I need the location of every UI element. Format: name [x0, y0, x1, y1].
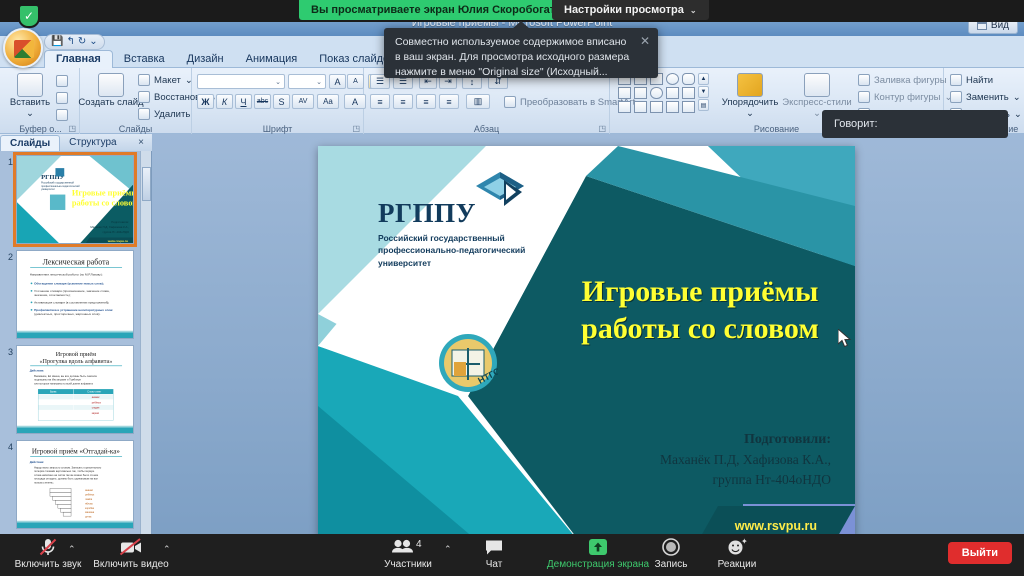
select-caret-icon: ⌄ [1014, 109, 1022, 120]
leave-meeting-button[interactable]: Выйти [948, 542, 1012, 564]
svg-text:Действие:: Действие: [30, 369, 44, 373]
brush-icon [56, 109, 68, 121]
thumbnail-number: 4 [3, 440, 13, 529]
paste-caret-icon: ⌄ [26, 108, 34, 119]
svg-text:каркас: каркас [92, 412, 100, 415]
thumbnail-slide-2[interactable]: Лексическая работа Направления лексическ… [16, 250, 134, 339]
font-name-input[interactable]: ⌄ [197, 74, 285, 89]
record-icon [662, 537, 680, 557]
logo-sub-line3: университет [378, 257, 548, 269]
tooltip-close-icon[interactable]: ✕ [640, 33, 650, 50]
layout-button[interactable]: Макет ⌄ [138, 74, 193, 86]
shape-outline-button[interactable]: Контур фигуры ⌄ [858, 91, 952, 103]
align-center-button[interactable]: ≡ [393, 94, 413, 109]
shape-down-arrow-icon[interactable] [634, 87, 647, 99]
group-slides: Создать слайд Макет ⌄ Восстановить Удали… [80, 68, 192, 135]
active-speaker-indicator: Говорит: [822, 110, 1008, 138]
logo-sub-line2: профессионально-педагогический [378, 244, 548, 256]
underline-button[interactable]: Ч [235, 94, 252, 109]
svg-text:лампа: лампа [85, 498, 93, 501]
delete-icon [138, 108, 150, 120]
character-spacing-button[interactable]: AV [292, 94, 314, 109]
svg-text:Игровые приёмы: Игровые приёмы [72, 189, 134, 198]
copy-button[interactable] [56, 92, 68, 104]
shape-brace-left-icon[interactable] [650, 101, 663, 113]
svg-text:поиска степень;: поиска степень; [34, 481, 54, 484]
svg-text:✦: ✦ [741, 538, 747, 546]
strikethrough-button[interactable]: abc [254, 94, 271, 109]
logo-subtitle: Российский государственный профессиональ… [378, 232, 548, 269]
group-paragraph-title: Абзац [364, 124, 609, 134]
smartart-icon [504, 96, 516, 108]
panel-close-icon[interactable]: × [138, 137, 144, 148]
shape-cloud-icon[interactable] [650, 87, 663, 99]
format-painter-button[interactable] [56, 109, 68, 121]
shape-brace-right-icon[interactable] [666, 101, 679, 113]
find-button[interactable]: Найти [950, 74, 993, 86]
svg-text:Российский государственный: Российский государственный [41, 182, 74, 185]
svg-text:значение, сочетаемость);: значение, сочетаемость); [34, 293, 71, 297]
thumbnail-2-art: Лексическая работа Направления лексическ… [17, 251, 134, 339]
shape-triangle-icon[interactable] [682, 87, 695, 99]
university-logo: РГППУ Российский государственный професс… [378, 198, 548, 269]
slide-title-line2: работы со словом [550, 311, 850, 348]
camera-icon [119, 538, 143, 556]
slide-title[interactable]: Игровые приёмы работы со словом [550, 274, 850, 347]
thumbnail-slide-3[interactable]: Игровой приём «Прогулка вдоль алфавита» … [16, 345, 134, 434]
scrollbar-thumb[interactable] [142, 167, 151, 201]
thumbnail-slide-4[interactable]: Игровой приём «Отгадай-ка» Действие: Нар… [16, 440, 134, 529]
arrange-button[interactable]: Упорядочить ⌄ [722, 73, 778, 119]
thumbnail-row[interactable]: 1 Игровые приёмы работы со словом [3, 155, 137, 244]
thumbnail-row[interactable]: 3 Игровой приём «Прогулка вдоль алфавита… [3, 345, 137, 434]
tab-slides[interactable]: Слайды [0, 135, 60, 151]
shape-right-arrow-icon[interactable] [618, 87, 631, 99]
smiley-icon: ✦ [727, 538, 747, 556]
thumbnail-slide-1[interactable]: Игровые приёмы работы со словом РГППУ Ро… [16, 155, 134, 244]
unmute-label: Включить звук [15, 559, 82, 570]
video-options-caret-icon[interactable]: ⌃ [163, 544, 171, 555]
replace-icon [950, 91, 962, 103]
start-video-label: Включить видео [93, 559, 169, 570]
participants-label: Участники [384, 559, 432, 570]
record-circle-icon [662, 538, 680, 556]
rgppu-logo-icon [474, 170, 526, 218]
group-font: ⌄ ⌄ A A ⌫ Ж К Ч abc S AV Аa A Шрифт ◳ [192, 68, 364, 135]
screen-share-banner: Вы просматриваете экран Юлия Скоробогато… [299, 0, 586, 20]
slides-panel: Слайды Структура × 1 [0, 134, 152, 542]
svg-text:яблоко: яблоко [85, 502, 93, 505]
view-options-label: Настройки просмотра [564, 4, 684, 16]
svg-text:Маханёк П.Д, Хафизова К.А.,: Маханёк П.Д, Хафизова К.А., [90, 225, 129, 229]
svg-text:Игровой приём: Игровой приём [56, 351, 96, 358]
chevron-down-icon: ⌄ [690, 6, 697, 15]
svg-text:группа Нт-404оНДО: группа Нт-404оНДО [103, 230, 130, 234]
svg-text:Профилактика и устранение нели: Профилактика и устранение нелитературных… [34, 308, 113, 312]
slide-thumbnail-list: 1 Игровые приёмы работы со словом [0, 151, 140, 542]
shape-outline-icon [858, 91, 870, 103]
shape-fill-icon [858, 74, 870, 86]
arrange-caret-icon: ⌄ [746, 108, 754, 119]
change-case-button[interactable]: Аa [317, 94, 339, 109]
office-button[interactable] [3, 28, 43, 68]
replace-label: Заменить [966, 92, 1009, 103]
svg-text:Активизация словаря (в составл: Активизация словаря (в составлении предл… [34, 300, 109, 304]
svg-text:работы со словом: работы со словом [72, 199, 134, 208]
quick-styles-label: Экспресс-стили [782, 97, 851, 108]
unmute-button[interactable]: Включить звук [5, 537, 91, 570]
group-clipboard-title: Буфер о... [2, 124, 79, 134]
group-font-title: Шрифт [192, 124, 363, 134]
office-logo-icon [14, 40, 34, 58]
view-options-button[interactable]: Настройки просмотра ⌄ [552, 0, 709, 20]
binoculars-icon [950, 74, 962, 86]
find-label: Найти [966, 75, 993, 86]
shapes-scroll-up-icon[interactable]: ▲ [698, 73, 709, 85]
svg-text:университет: университет [41, 188, 56, 191]
record-label: Запись [655, 559, 688, 570]
scissors-icon [56, 75, 68, 87]
paste-button[interactable]: Вставить ⌄ [8, 73, 52, 119]
share-fit-tooltip: ✕ Совместно используемое содержимое впис… [384, 28, 658, 78]
current-slide[interactable]: РГППУ Российский государственный професс… [318, 146, 855, 542]
font-dialog-launcher-icon[interactable]: ◳ [352, 124, 360, 133]
svg-text:Действие:: Действие: [30, 460, 44, 464]
new-slide-label: Создать слайд [78, 97, 143, 108]
svg-text:Слово-ответ: Слово-ответ [87, 391, 102, 394]
authors-line2: группа Нт-404оНДО [561, 470, 831, 490]
svg-text:коробка: коробка [85, 507, 95, 510]
copy-icon [56, 92, 68, 104]
svg-text:стадия: стадия [92, 407, 100, 410]
shapes-scroll-down-icon[interactable]: ▼ [698, 86, 709, 98]
italic-button[interactable]: К [216, 94, 233, 109]
svg-text:(диалектных, просторечных, жар: (диалектных, просторечных, жаргонных сло… [34, 312, 100, 316]
columns-button[interactable]: ▥ [466, 94, 490, 109]
shapes-scroll[interactable]: ▲ ▼ ▤ [698, 73, 709, 111]
shape-scribble-icon[interactable] [618, 101, 631, 113]
thumbnail-row[interactable]: 4 Игровой приём «Отгадай-ка» Действие: Н… [3, 440, 137, 529]
thumbnail-4-art: Игровой приём «Отгадай-ка» Действие: Нар… [17, 441, 134, 529]
svg-text:Буква: Буква [50, 391, 57, 394]
tooltip-line1: Совместно используемое содержимое вписан… [395, 35, 632, 50]
layout-icon [138, 74, 150, 86]
delete-slide-button[interactable]: Удалить [138, 108, 190, 120]
svg-text:«Прогулка вдоль алфавита»: «Прогулка вдоль алфавита» [39, 358, 112, 365]
share-shield-icon: ✓ [18, 4, 40, 28]
zoom-control-bar: Включить звук ⌃ Включить видео ⌃ 4 Участ… [0, 534, 1024, 576]
participants-button[interactable]: 4 Участники [365, 537, 451, 570]
font-size-input[interactable]: ⌄ [288, 74, 326, 89]
ntgspi-seal-icon: НТГСПИ [438, 332, 498, 394]
quick-styles-caret-icon: ⌄ [813, 108, 821, 119]
powerpoint-window: Игровые приёмы - Microsoft PowerPoint Ви… [0, 14, 1024, 542]
svg-text:Лексическая работа: Лексическая работа [43, 258, 110, 267]
reset-icon [138, 91, 150, 103]
cut-button[interactable] [56, 75, 68, 87]
svg-text:Уточнение словаря (произношени: Уточнение словаря (произношение, значени… [34, 289, 110, 293]
tab-dizayn[interactable]: Дизайн [176, 51, 235, 68]
chat-button[interactable]: Чат [451, 537, 537, 570]
microphone-muted-icon [38, 537, 58, 557]
undo-icon[interactable]: ↰ [66, 37, 74, 47]
audio-options-caret-icon[interactable]: ⌃ [68, 544, 76, 555]
shapes-more-icon[interactable]: ▤ [698, 99, 709, 111]
microphone-icon [38, 537, 58, 557]
save-icon[interactable]: 💾 [51, 37, 63, 47]
svg-text:www.rsvpu.ru: www.rsvpu.ru [107, 239, 128, 243]
reactions-button[interactable]: ✦ Реакции [694, 537, 780, 570]
shape-arc-icon[interactable] [634, 101, 647, 113]
arrange-icon [737, 73, 763, 97]
speaker-label: Говорит: [834, 118, 878, 130]
quick-access-toolbar[interactable]: 💾 ↰ ↻ ⌄ [44, 34, 105, 50]
arrange-label: Упорядочить [722, 97, 779, 108]
svg-text:ананас: ананас [92, 396, 101, 399]
paste-icon [17, 73, 43, 97]
svg-text:ручка: ручка [85, 516, 92, 519]
new-slide-icon [98, 73, 124, 97]
chat-icon [484, 537, 504, 557]
grow-font-button[interactable]: A [329, 74, 346, 89]
thumbnail-number: 1 [3, 155, 13, 244]
justify-button[interactable]: ≡ [439, 94, 459, 109]
shape-curve-icon[interactable] [666, 87, 679, 99]
clipboard-dialog-launcher-icon[interactable]: ◳ [68, 124, 76, 133]
svg-text:ребёнок: ребёнок [85, 494, 95, 497]
speech-bubble-icon [484, 539, 504, 556]
group-clipboard: Вставить ⌄ Буфер о... ◳ [2, 68, 80, 135]
svg-text:ребёнок: ребёнок [92, 401, 102, 404]
view-icon [977, 21, 987, 30]
slide-editing-area: РГППУ Российский государственный професс… [152, 134, 1024, 542]
svg-text:профессионально-педагогический: профессионально-педагогический [41, 185, 80, 188]
svg-text:Подготовили:: Подготовили: [111, 220, 129, 224]
new-slide-button[interactable]: Создать слайд [86, 73, 136, 108]
reactions-icon: ✦ [727, 537, 747, 557]
tab-outline[interactable]: Структура [60, 135, 125, 150]
font-color-button[interactable]: A [344, 94, 366, 109]
shape-round-rect-icon[interactable] [682, 73, 695, 85]
svg-text:Направления лексической работы: Направления лексической работы (по М.Р.Л… [30, 273, 103, 277]
camera-muted-icon [119, 537, 143, 557]
shape-fill-label: Заливка фигуры [874, 75, 947, 86]
bold-button[interactable]: Ж [197, 94, 214, 109]
layout-label: Макет [154, 75, 181, 86]
group-slides-title: Слайды [80, 124, 191, 134]
shrink-font-button[interactable]: A [347, 74, 364, 89]
thumbnail-number: 2 [3, 250, 13, 339]
slide-title-line1: Игровые приёмы [550, 274, 850, 311]
svg-text:ананас: ананас [85, 489, 94, 492]
qat-more-icon[interactable]: ⌄ [89, 37, 97, 47]
chat-label: Чат [486, 559, 503, 570]
shape-star-icon[interactable] [682, 101, 695, 113]
zoom-top-bar: Вы просматриваете экран Юлия Скоробогато… [0, 0, 1024, 22]
thumbnail-row[interactable]: 2 Лексическая работа Направления лексиче… [3, 250, 137, 339]
mouse-cursor-icon [838, 329, 852, 349]
text-shadow-button[interactable]: S [273, 94, 290, 109]
thumbnail-number: 3 [3, 345, 13, 434]
align-left-button[interactable]: ≡ [370, 94, 390, 109]
participants-icon: 4 [391, 537, 425, 557]
tab-vstavka[interactable]: Вставка [113, 51, 176, 68]
tab-glavnaya[interactable]: Главная [44, 50, 113, 68]
slides-panel-scrollbar[interactable] [140, 151, 151, 542]
shape-ellipse-icon[interactable] [666, 73, 679, 85]
shape-outline-label: Контур фигуры [874, 92, 940, 103]
panel-tabs: Слайды Структура × [0, 134, 152, 151]
thumbnail-3-art: Игровой приём «Прогулка вдоль алфавита» … [17, 346, 134, 434]
tab-animatsiya[interactable]: Анимация [235, 51, 309, 68]
thumbnail-1-art: Игровые приёмы работы со словом РГППУ Ро… [17, 156, 134, 244]
paragraph-dialog-launcher-icon[interactable]: ◳ [598, 124, 606, 133]
reactions-label: Реакции [718, 559, 757, 570]
tooltip-line2: в ваш экран. Для просмотра исходного раз… [395, 50, 632, 65]
svg-text:Игровой приём «Отгадай-ка»: Игровой приём «Отгадай-ка» [32, 447, 120, 455]
share-screen-icon [587, 537, 609, 557]
slide-website: www.rsvpu.ru [735, 519, 817, 533]
replace-button[interactable]: Заменить ⌄ [950, 91, 1021, 103]
quick-styles-icon [804, 73, 830, 97]
logo-sub-line1: Российский государственный [378, 232, 548, 244]
delete-label: Удалить [154, 109, 190, 120]
paste-label: Вставить [10, 97, 50, 108]
tooltip-arrow-icon [512, 21, 530, 29]
redo-icon[interactable]: ↻ [78, 37, 86, 47]
authors-lead: Подготовили: [561, 429, 831, 450]
start-video-button[interactable]: Включить видео [88, 537, 174, 570]
svg-text:Обогащение словаря (усвоение н: Обогащение словаря (усвоение новых слов)… [34, 281, 104, 285]
people-icon: 4 [391, 538, 425, 556]
tooltip-line3: нажмите в меню "Original size" (Исходный… [395, 65, 632, 80]
slide-authors[interactable]: Подготовили: Маханёк П.Д, Хафизова К.А.,… [561, 429, 831, 491]
svg-text:машина: машина [85, 511, 95, 514]
svg-text:4: 4 [416, 539, 422, 550]
replace-caret-icon: ⌄ [1013, 92, 1021, 103]
authors-line1: Маханёк П.Д, Хафизова К.А., [561, 450, 831, 470]
align-right-button[interactable]: ≡ [416, 94, 436, 109]
upload-arrow-icon [587, 538, 609, 556]
